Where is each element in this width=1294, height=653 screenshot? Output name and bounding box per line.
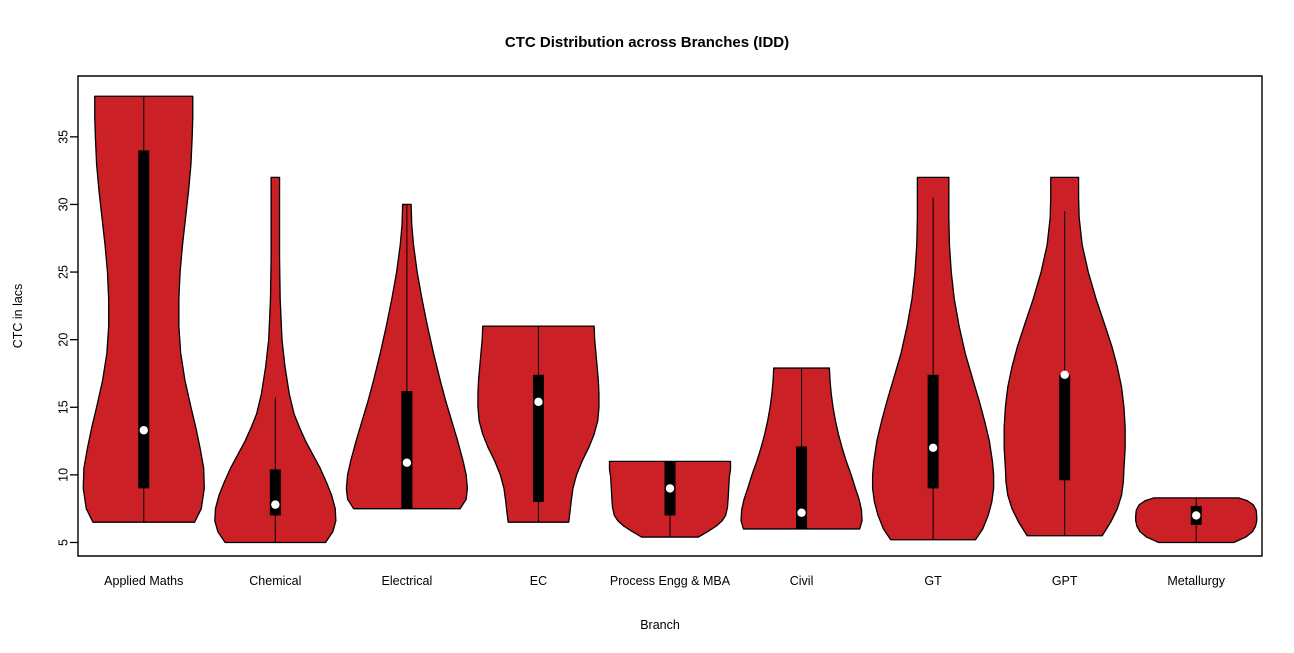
- y-tick-label: 30: [57, 197, 71, 211]
- x-tick-label: GPT: [1052, 574, 1078, 588]
- y-tick-label: 20: [57, 333, 71, 347]
- x-axis-title: Branch: [640, 618, 680, 632]
- violin-ec: [478, 326, 599, 522]
- median-marker: [271, 500, 279, 508]
- iqr-box: [138, 150, 149, 488]
- x-tick-label: Civil: [790, 574, 814, 588]
- violin-plot-figure: CTC Distribution across Branches (IDD) C…: [0, 0, 1294, 653]
- x-tick-label: EC: [530, 574, 547, 588]
- violin-chemical: [215, 177, 336, 542]
- violin-process-engg-mba: [609, 461, 730, 537]
- x-tick-label: Applied Maths: [104, 574, 183, 588]
- iqr-box: [533, 375, 544, 502]
- y-axis: 5101520253035: [57, 130, 79, 546]
- violin-electrical: [346, 204, 467, 508]
- y-tick-label: 35: [57, 130, 71, 144]
- violin-metallurgy: [1136, 498, 1257, 543]
- x-tick-label: Process Engg & MBA: [610, 574, 731, 588]
- violin-applied-maths: [83, 96, 204, 522]
- median-marker: [797, 509, 805, 517]
- median-marker: [534, 398, 542, 406]
- median-marker: [403, 459, 411, 467]
- median-marker: [929, 444, 937, 452]
- x-tick-label: Electrical: [382, 574, 433, 588]
- violin-gpt: [1004, 177, 1125, 535]
- chart-title: CTC Distribution across Branches (IDD): [505, 34, 789, 51]
- median-marker: [140, 426, 148, 434]
- y-tick-label: 10: [57, 468, 71, 482]
- violin-gt: [873, 177, 994, 539]
- x-axis: Applied MathsChemicalElectricalECProcess…: [104, 574, 1226, 588]
- y-axis-title: CTC in lacs: [11, 284, 25, 349]
- y-tick-label: 15: [57, 400, 71, 414]
- iqr-box: [928, 375, 939, 489]
- median-marker: [666, 484, 674, 492]
- x-tick-label: Chemical: [249, 574, 301, 588]
- iqr-box: [1059, 375, 1070, 480]
- median-marker: [1192, 511, 1200, 519]
- iqr-box: [401, 391, 412, 509]
- violin-series-group: [83, 96, 1256, 542]
- x-tick-label: Metallurgy: [1167, 574, 1225, 588]
- x-tick-label: GT: [924, 574, 942, 588]
- y-tick-label: 5: [57, 539, 71, 546]
- chart-canvas: CTC Distribution across Branches (IDD) C…: [0, 0, 1294, 653]
- median-marker: [1060, 371, 1068, 379]
- y-tick-label: 25: [57, 265, 71, 279]
- violin-civil: [741, 368, 862, 529]
